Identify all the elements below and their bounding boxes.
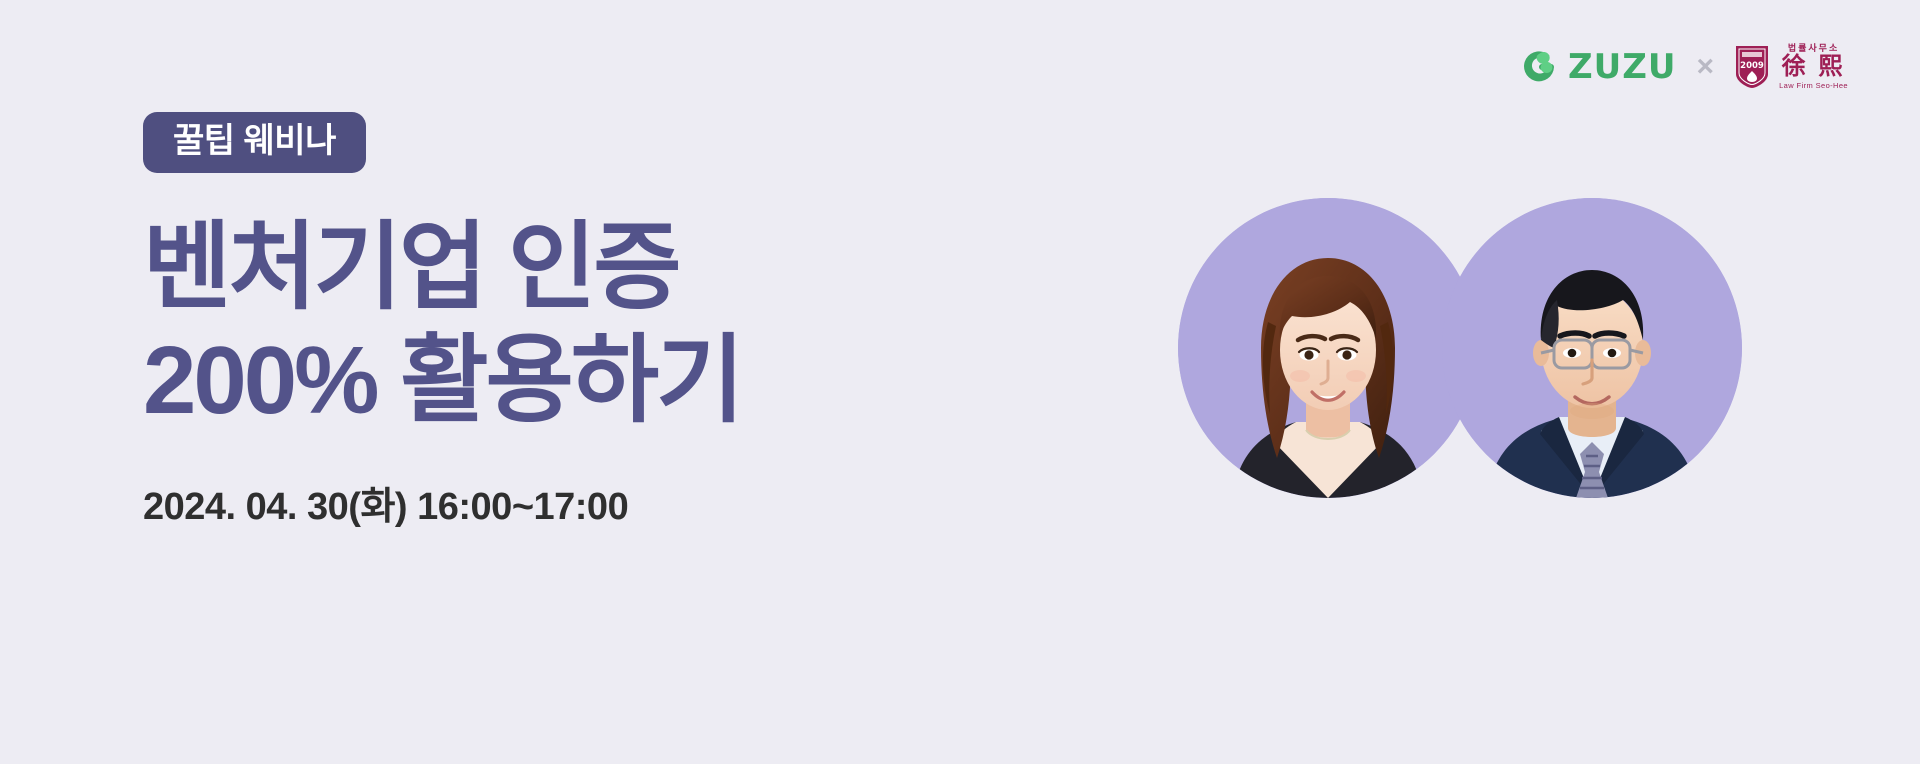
zuzu-logo[interactable]: ZUZU [1523,49,1677,85]
speaker-female-portrait [1178,198,1478,498]
lawfirm-top-label: 법률사무소 [1788,44,1839,53]
logo-lockup: ZUZU × 2009 법률사무소 徐 熙 Law Firm Seo-Hee [1523,38,1848,96]
lawfirm-wordmark: 법률사무소 徐 熙 Law Firm Seo-Hee [1779,44,1848,90]
zuzu-wordmark: ZUZU [1568,50,1677,84]
speaker-portrait-group [1178,258,1778,538]
page-title: 벤처기업 인증 200% 활용하기 [143,211,1043,438]
lawfirm-logo[interactable]: 2009 법률사무소 徐 熙 Law Firm Seo-Hee [1734,44,1848,90]
webinar-category-badge: 꿀팁 웨비나 [143,112,366,173]
lawfirm-main-label: 徐 熙 [1782,55,1846,79]
avatar [1178,198,1478,498]
headline-line-2: 200% 활용하기 [143,324,1043,437]
avatar [1442,198,1742,498]
webinar-promo-banner: ZUZU × 2009 법률사무소 徐 熙 Law Firm Seo-Hee [0,0,1920,764]
lawfirm-latin-label: Law Firm Seo-Hee [1779,82,1848,90]
banner-content: 꿀팁 웨비나 벤처기업 인증 200% 활용하기 2024. 04. 30(화)… [143,112,1043,526]
headline-line-1: 벤처기업 인증 [143,211,1043,324]
svg-text:2009: 2009 [1740,61,1764,71]
cross-separator-icon: × [1695,52,1717,82]
speaker-male-portrait [1442,198,1742,498]
lawfirm-shield-icon: 2009 [1734,44,1770,90]
event-datetime: 2024. 04. 30(화) 16:00~17:00 [143,488,1043,526]
zuzu-leaf-mark-icon [1523,49,1559,85]
